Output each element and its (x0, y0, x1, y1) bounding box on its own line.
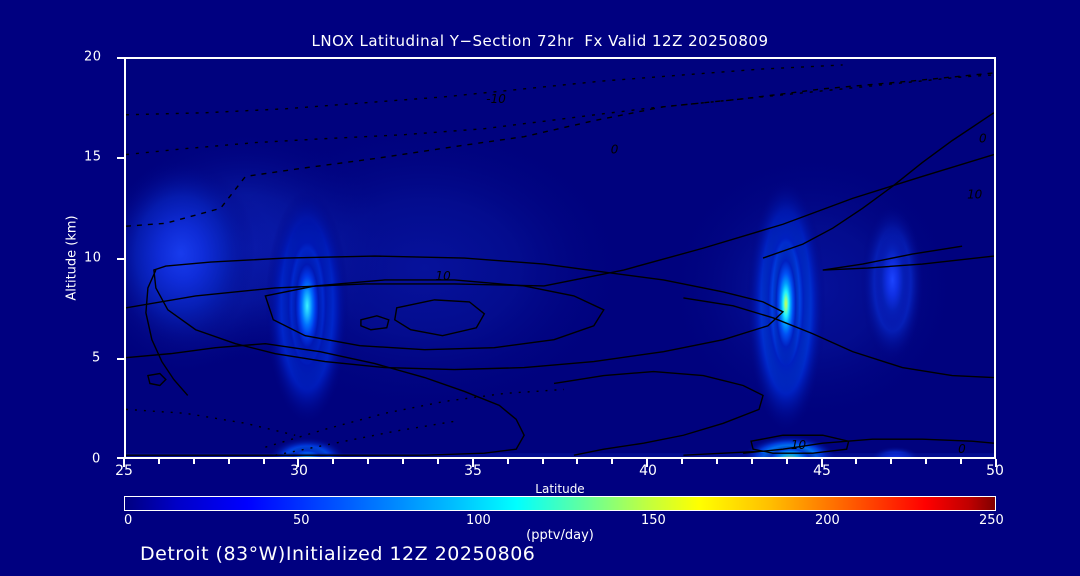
contour-label-0-upper: 0 (611, 143, 619, 157)
y-tick-0: 0 (92, 452, 101, 467)
x-tickmark-36 (507, 459, 509, 464)
colorbar-tick-200: 200 (815, 513, 840, 528)
x-tickmark-49 (960, 459, 962, 464)
contour-label-0-right: 0 (979, 132, 987, 146)
x-tickmark-41 (681, 459, 683, 464)
y-tickmark-5 (117, 358, 124, 360)
colorbar-tick-150: 150 (641, 513, 666, 528)
y-axis-title: Altitude (km) (65, 215, 80, 300)
x-tickmark-38 (576, 459, 578, 464)
x-tickmark-39 (611, 459, 613, 464)
y-tick-15: 15 (84, 150, 102, 165)
x-tickmark-29 (263, 459, 265, 464)
figure-canvas: LNOX Latitudinal Y−Section 72hr Fx Valid… (0, 0, 1080, 576)
y-tick-5: 5 (92, 351, 101, 366)
x-tickmark-26 (158, 459, 160, 464)
x-tickmark-34 (437, 459, 439, 464)
contour-label-neg10: -10 (486, 92, 505, 106)
colorbar-tick-250: 250 (979, 513, 1004, 528)
colorbar-tick-50: 50 (293, 513, 310, 528)
x-tickmark-45 (821, 459, 823, 467)
x-tickmark-25 (123, 459, 125, 467)
plot-area: -10 0 10 0 10 10 0 (124, 57, 996, 459)
x-tickmark-35 (472, 459, 474, 467)
x-tickmark-31 (332, 459, 334, 464)
x-tickmark-43 (751, 459, 753, 464)
x-tickmark-42 (716, 459, 718, 464)
x-tickmark-50 (995, 459, 997, 467)
y-tickmark-10 (117, 258, 124, 260)
contour-label-10-lobe: 10 (436, 269, 451, 283)
contour-label-10-right: 10 (967, 187, 982, 201)
x-tickmark-27 (193, 459, 195, 464)
x-tickmark-32 (367, 459, 369, 464)
colorbar (124, 496, 996, 511)
contour-label-0-surface: 0 (958, 442, 966, 456)
contour-label-10-surface: 10 (791, 438, 806, 452)
x-tickmark-28 (228, 459, 230, 464)
x-tickmark-46 (855, 459, 857, 464)
x-tickmark-33 (402, 459, 404, 464)
y-tickmark-20 (117, 57, 124, 59)
x-tickmark-47 (890, 459, 892, 464)
colorbar-tick-100: 100 (466, 513, 491, 528)
figure-caption: Detroit (83°W)Initialized 12Z 20250806 (140, 543, 535, 565)
x-axis-title: Latitude (535, 482, 584, 496)
x-tickmark-44 (786, 459, 788, 464)
temperature-contours: -10 0 10 0 10 10 0 (126, 59, 994, 459)
x-tickmark-48 (925, 459, 927, 464)
x-tickmark-37 (542, 459, 544, 464)
y-tick-20: 20 (84, 50, 102, 65)
y-tickmark-15 (117, 157, 124, 159)
y-tick-10: 10 (84, 251, 102, 266)
colorbar-units-label: (pptv/day) (526, 528, 594, 543)
x-tickmark-40 (646, 459, 648, 467)
plot-title: LNOX Latitudinal Y−Section 72hr Fx Valid… (0, 32, 1080, 50)
colorbar-tick-0: 0 (124, 513, 132, 528)
x-tickmark-30 (297, 459, 299, 467)
